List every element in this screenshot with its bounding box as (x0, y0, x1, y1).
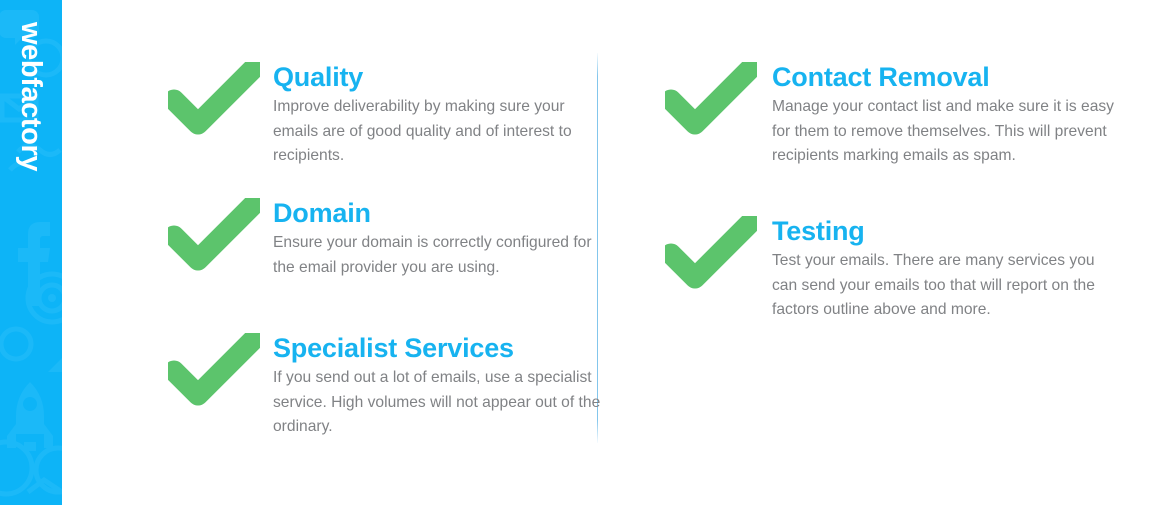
feature-title: Testing (772, 216, 1120, 246)
green-check-icon (168, 62, 260, 138)
squiggle-icon (18, 145, 60, 154)
circle-icon (1, 329, 31, 359)
feature-body: Domain Ensure your domain is correctly c… (273, 198, 613, 280)
brand-sidebar: webfactory (0, 0, 62, 505)
squiggle-icon (10, 163, 32, 170)
envelope-icon (2, 96, 36, 120)
circle-icon (29, 41, 62, 75)
green-check-icon (168, 198, 260, 274)
content-area: Quality Improve deliverability by making… (62, 0, 1150, 505)
infographic-canvas: webfactory Quality Improve deliverabilit… (0, 0, 1150, 505)
feature-title: Quality (273, 62, 613, 92)
feature-title: Domain (273, 198, 613, 228)
target-icon (48, 294, 56, 302)
green-check-icon (168, 333, 260, 409)
rocket-window-icon (23, 397, 37, 411)
feature-description: Test your emails. There are many service… (772, 249, 1120, 323)
circle-icon (0, 442, 32, 494)
sidebar-pattern-watermark (0, 0, 62, 505)
feature-body: Contact Removal Manage your contact list… (772, 62, 1120, 169)
rocket-fin-icon (44, 424, 53, 448)
feature-description: If you send out a lot of emails, use a s… (273, 366, 613, 440)
facebook-icon (18, 222, 50, 306)
chat-bubble-icon (0, 10, 39, 45)
feature-description: Ensure your domain is correctly configur… (273, 231, 613, 280)
arrow-icon (48, 358, 62, 372)
feature-body: Quality Improve deliverability by making… (273, 62, 613, 169)
feature-description: Manage your contact list and make sure i… (772, 95, 1120, 169)
green-check-icon (665, 216, 757, 292)
feature-body: Specialist Services If you send out a lo… (273, 333, 613, 440)
feature-description: Improve deliverability by making sure yo… (273, 95, 613, 169)
feature-title: Contact Removal (772, 62, 1120, 92)
green-check-icon (665, 62, 757, 138)
feature-title: Specialist Services (273, 333, 613, 363)
feature-body: Testing Test your emails. There are many… (772, 216, 1120, 323)
